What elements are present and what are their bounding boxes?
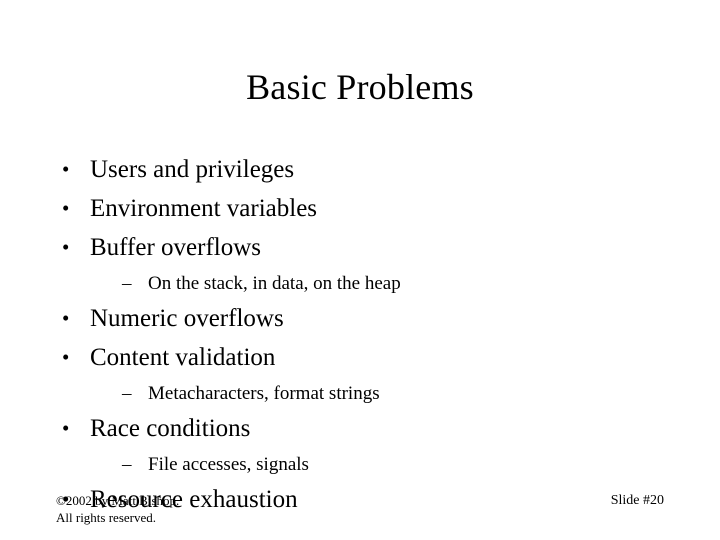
- copyright-line-2: All rights reserved.: [56, 509, 179, 526]
- bullet-icon: •: [62, 301, 69, 336]
- sub-list-item-label: File accesses, signals: [148, 454, 309, 475]
- dash-icon: –: [122, 269, 132, 298]
- copyright-line-1: ©2002 by Matt Bishop.: [56, 492, 179, 509]
- bullet-list: • Users and privileges • Environment var…: [48, 152, 688, 521]
- list-item: • Content validation: [48, 340, 688, 375]
- list-item: • Race conditions: [48, 411, 688, 446]
- list-item-label: Environment variables: [90, 195, 317, 222]
- bullet-icon: •: [62, 152, 69, 187]
- bullet-icon: •: [62, 411, 69, 446]
- slide: Basic Problems • Users and privileges • …: [0, 0, 720, 540]
- sub-list-item: – File accesses, signals: [48, 450, 688, 479]
- dash-icon: –: [122, 450, 132, 479]
- list-item-label: Users and privileges: [90, 156, 294, 183]
- list-item: • Users and privileges: [48, 152, 688, 187]
- sub-list-item-label: On the stack, in data, on the heap: [148, 273, 401, 294]
- list-item: • Environment variables: [48, 191, 688, 226]
- list-item-label: Content validation: [90, 344, 275, 371]
- list-item: • Buffer overflows: [48, 230, 688, 265]
- slide-number: Slide #20: [611, 492, 664, 509]
- sub-list-item: – Metacharacters, format strings: [48, 379, 688, 408]
- list-item-label: Buffer overflows: [90, 234, 261, 261]
- dash-icon: –: [122, 379, 132, 408]
- list-item-label: Numeric overflows: [90, 305, 284, 332]
- bullet-icon: •: [62, 230, 69, 265]
- sub-list-item: – On the stack, in data, on the heap: [48, 269, 688, 298]
- list-item: • Numeric overflows: [48, 301, 688, 336]
- copyright-footer: ©2002 by Matt Bishop. All rights reserve…: [56, 492, 179, 526]
- bullet-icon: •: [62, 340, 69, 375]
- list-item-label: Race conditions: [90, 415, 250, 442]
- sub-list-item-label: Metacharacters, format strings: [148, 383, 380, 404]
- page-title: Basic Problems: [0, 66, 720, 108]
- bullet-icon: •: [62, 191, 69, 226]
